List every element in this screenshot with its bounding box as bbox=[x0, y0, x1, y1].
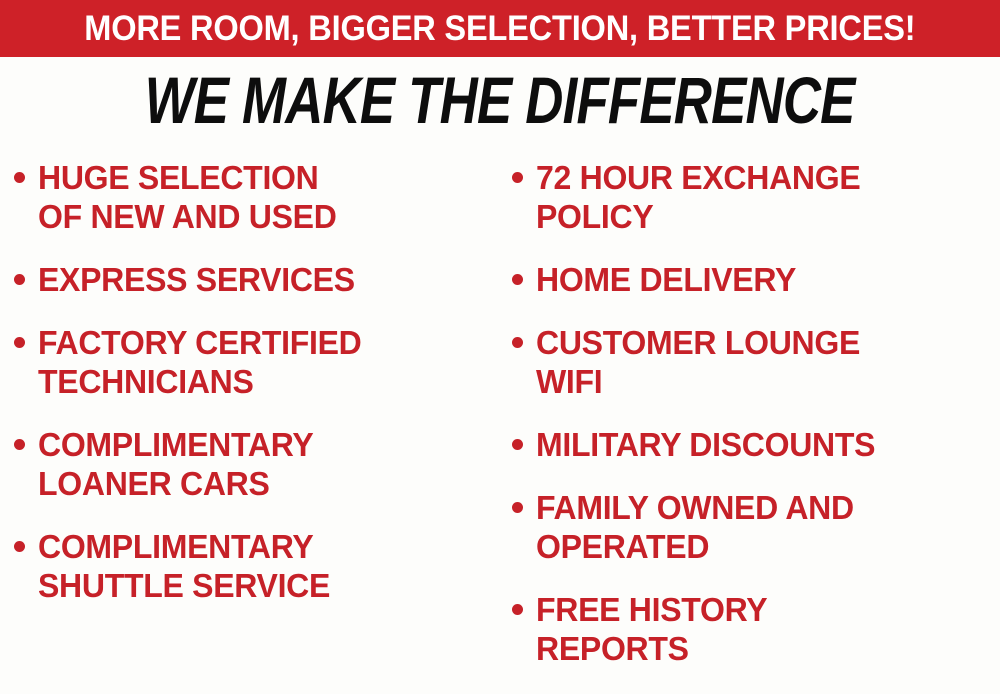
dot-bullet-icon bbox=[512, 274, 523, 285]
dot-bullet-icon bbox=[512, 502, 523, 513]
dot-bullet-icon bbox=[512, 604, 523, 615]
dot-bullet-icon bbox=[14, 439, 25, 450]
list-item-label: 72 HOUR EXCHANGE POLICY bbox=[536, 158, 860, 236]
benefits-column-left: HUGE SELECTION OF NEW AND USEDEXPRESS SE… bbox=[14, 158, 500, 694]
list-item: HUGE SELECTION OF NEW AND USED bbox=[14, 158, 500, 236]
list-item: EXPRESS SERVICES bbox=[14, 260, 500, 299]
list-item: COMPLIMENTARY LOANER CARS bbox=[14, 425, 500, 503]
list-item-label: FAMILY OWNED AND OPERATED bbox=[536, 488, 854, 566]
list-item: HOME DELIVERY bbox=[512, 260, 1000, 299]
list-item: 72 HOUR EXCHANGE POLICY bbox=[512, 158, 1000, 236]
list-item: CUSTOMER LOUNGE WIFI bbox=[512, 323, 1000, 401]
list-item-label: EXPRESS SERVICES bbox=[38, 260, 355, 299]
top-banner: MORE ROOM, BIGGER SELECTION, BETTER PRIC… bbox=[0, 0, 1000, 57]
list-item: FACTORY CERTIFIED TECHNICIANS bbox=[14, 323, 500, 401]
list-item: COMPLIMENTARY SHUTTLE SERVICE bbox=[14, 527, 500, 605]
banner-headline: MORE ROOM, BIGGER SELECTION, BETTER PRIC… bbox=[84, 11, 915, 46]
dot-bullet-icon bbox=[512, 439, 523, 450]
list-item: FAMILY OWNED AND OPERATED bbox=[512, 488, 1000, 566]
list-item-label: COMPLIMENTARY LOANER CARS bbox=[38, 425, 313, 503]
headline-container: WE MAKE THE DIFFERENCE bbox=[0, 66, 1000, 134]
dot-bullet-icon bbox=[14, 541, 25, 552]
list-item-label: HOME DELIVERY bbox=[536, 260, 796, 299]
page-title: WE MAKE THE DIFFERENCE bbox=[145, 67, 855, 133]
dot-bullet-icon bbox=[14, 337, 25, 348]
list-item: MILITARY DISCOUNTS bbox=[512, 425, 1000, 464]
benefits-columns: HUGE SELECTION OF NEW AND USEDEXPRESS SE… bbox=[0, 158, 1000, 694]
list-item: FREE HISTORY REPORTS bbox=[512, 590, 1000, 668]
dot-bullet-icon bbox=[512, 337, 523, 348]
dot-bullet-icon bbox=[14, 274, 25, 285]
dealership-benefits-poster: MORE ROOM, BIGGER SELECTION, BETTER PRIC… bbox=[0, 0, 1000, 694]
list-item-label: FREE HISTORY REPORTS bbox=[536, 590, 767, 668]
dot-bullet-icon bbox=[14, 172, 25, 183]
benefits-column-right: 72 HOUR EXCHANGE POLICYHOME DELIVERYCUST… bbox=[512, 158, 1000, 694]
list-item-label: FACTORY CERTIFIED TECHNICIANS bbox=[38, 323, 361, 401]
list-item-label: MILITARY DISCOUNTS bbox=[536, 425, 875, 464]
list-item-label: CUSTOMER LOUNGE WIFI bbox=[536, 323, 860, 401]
list-item-label: HUGE SELECTION OF NEW AND USED bbox=[38, 158, 337, 236]
dot-bullet-icon bbox=[512, 172, 523, 183]
list-item-label: COMPLIMENTARY SHUTTLE SERVICE bbox=[38, 527, 330, 605]
